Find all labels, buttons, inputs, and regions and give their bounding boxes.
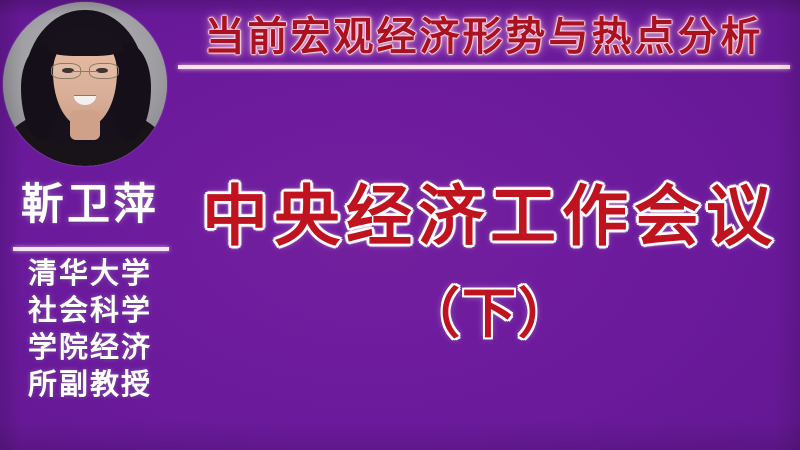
- course-banner-title: 当前宏观经济形势与热点分析: [176, 12, 792, 62]
- page-title: 中央经济工作会议: [200, 176, 780, 256]
- affiliation-line: 社会科学: [4, 292, 176, 329]
- affiliation-line: 所副教授: [4, 366, 176, 403]
- speaker-divider-rule: [13, 247, 169, 251]
- page-subtitle: （下）: [200, 280, 780, 346]
- banner-underline-rule: [178, 65, 790, 69]
- affiliation-line: 清华大学: [4, 255, 176, 292]
- presentation-slide: 当前宏观经济形势与热点分析 中央经济工作会议 （下） 靳卫萍 清华大学 社会科学…: [0, 0, 800, 450]
- portrait-neck: [70, 110, 100, 140]
- speaker-affiliation: 清华大学 社会科学 学院经济 所副教授: [4, 255, 176, 403]
- affiliation-line: 学院经济: [4, 329, 176, 366]
- portrait-fringe: [47, 28, 122, 56]
- speaker-portrait-avatar: [3, 2, 167, 166]
- glasses-bridge: [72, 71, 98, 72]
- speaker-name: 靳卫萍: [4, 180, 176, 230]
